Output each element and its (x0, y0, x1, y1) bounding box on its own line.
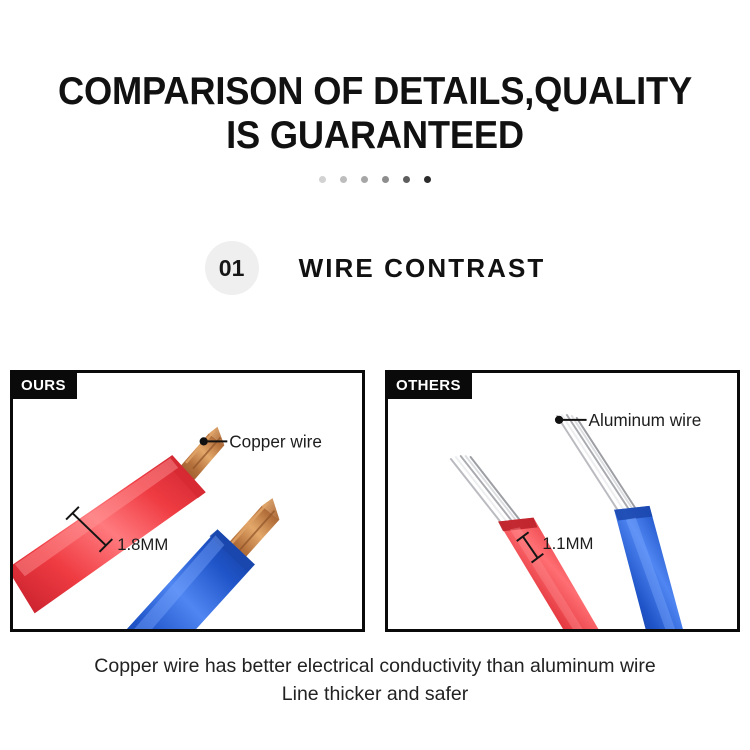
dot-4 (382, 176, 389, 183)
others-wire-photo: 1.1MM Aluminum wire (388, 373, 737, 629)
others-dimension-label: 1.1MM (542, 534, 593, 553)
comparison-panels: OURS (0, 370, 750, 632)
others-wire-label: Aluminum wire (589, 410, 702, 430)
dot-6 (424, 176, 431, 183)
page-header: COMPARISON OF DETAILS,QUALITY IS GUARANT… (0, 0, 750, 183)
ours-dimension-label: 1.8MM (117, 535, 168, 554)
others-label-leader (555, 416, 587, 424)
caption-line-2: Line thicker and safer (0, 680, 750, 708)
panel-ours: OURS (10, 370, 365, 632)
decorative-dots (0, 176, 750, 183)
dot-1 (319, 176, 326, 183)
comparison-caption: Copper wire has better electrical conduc… (0, 652, 750, 709)
caption-line-1: Copper wire has better electrical conduc… (0, 652, 750, 680)
page-title-line-1: COMPARISON OF DETAILS,QUALITY (39, 70, 710, 114)
section-heading: 01 WIRE CONTRAST (0, 241, 750, 295)
panel-badge-ours: OURS (13, 373, 77, 399)
dot-2 (340, 176, 347, 183)
page-title-line-2: IS GUARANTEED (39, 114, 710, 158)
others-red-aluminum-strands (451, 456, 522, 526)
section-title: WIRE CONTRAST (299, 253, 546, 284)
dot-5 (403, 176, 410, 183)
panel-others: OTHERS (385, 370, 740, 632)
ours-wire-label: Copper wire (229, 431, 322, 451)
page-title: COMPARISON OF DETAILS,QUALITY IS GUARANT… (39, 70, 710, 158)
panel-badge-others: OTHERS (388, 373, 472, 399)
others-blue-aluminum-strands (557, 415, 638, 514)
ours-wire-photo: 1.8MM Copper wire (13, 373, 362, 629)
section-number-badge: 01 (205, 241, 259, 295)
dot-3 (361, 176, 368, 183)
